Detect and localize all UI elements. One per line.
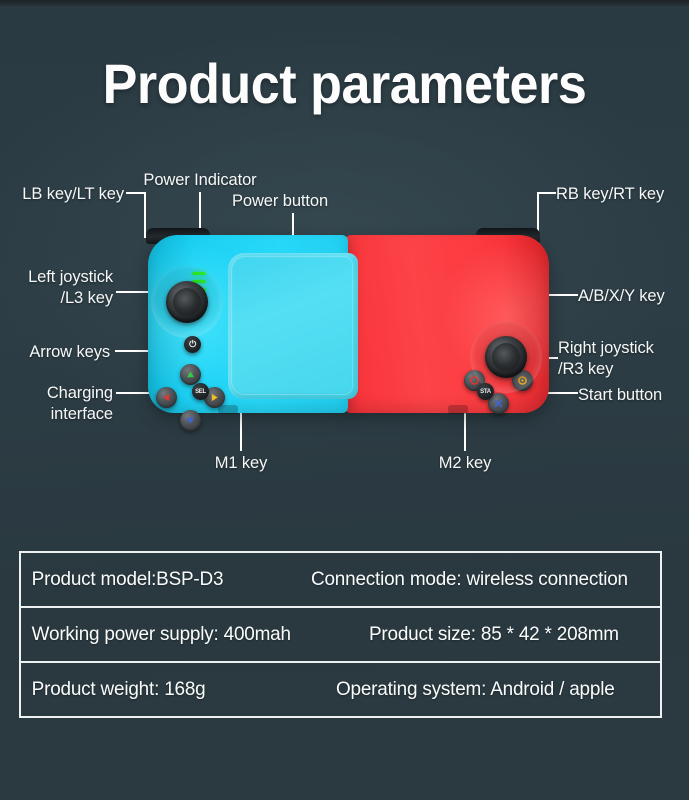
- dpad-down-button[interactable]: [180, 410, 201, 431]
- power-button[interactable]: ⏻: [184, 336, 201, 353]
- callout-label-power-button: Power button: [232, 191, 392, 212]
- select-button[interactable]: SEL: [192, 383, 209, 400]
- start-button-label: STA: [480, 389, 491, 395]
- leader-line-rb-rt-h: [538, 192, 556, 194]
- start-button[interactable]: STA: [477, 383, 494, 400]
- spec-cell-operating-system: Operating system: Android / apple: [336, 678, 615, 701]
- gamepad-illustration: ⏻ SEL: [0, 228, 689, 413]
- m1-key[interactable]: [218, 405, 238, 414]
- right-joystick[interactable]: [485, 336, 527, 378]
- spec-cell-product-size: Product size: 85 * 42 * 208mm: [369, 623, 619, 646]
- leader-line-m1-key: [240, 412, 242, 451]
- leader-line-m2-key: [464, 412, 466, 451]
- phone-cradle-lip: [231, 256, 353, 395]
- product-parameters-infographic: Product parameters LB key/LT key Power I…: [0, 0, 689, 800]
- spec-cell-product-model: Product model:BSP-D3: [21, 568, 302, 591]
- callout-label-lb-lt: LB key/LT key: [0, 184, 124, 205]
- right-joystick-cap: [492, 343, 520, 371]
- select-button-label: SEL: [195, 389, 206, 395]
- top-edge-band: [0, 0, 689, 6]
- callout-label-m2-key: M2 key: [410, 453, 520, 474]
- spec-table-row: Working power supply: 400mah Product siz…: [21, 608, 660, 663]
- left-joystick[interactable]: [166, 281, 208, 323]
- callout-label-m1-key: M1 key: [186, 453, 296, 474]
- spec-cell-product-weight: Product weight: 168g: [21, 678, 327, 701]
- left-joystick-cap: [173, 288, 201, 316]
- callout-label-power-indicator: Power Indicator: [126, 170, 274, 191]
- callout-label-rb-rt: RB key/RT key: [556, 184, 689, 205]
- page-title: Product parameters: [24, 49, 665, 119]
- power-icon: ⏻: [189, 339, 196, 350]
- spec-table: Product model:BSP-D3 Connection mode: wi…: [19, 551, 662, 718]
- dpad-up-button[interactable]: [180, 364, 201, 385]
- spec-cell-working-power-supply: Working power supply: 400mah: [21, 623, 359, 646]
- leader-line-lb-lt-h: [126, 192, 146, 194]
- spec-table-row: Product weight: 168g Operating system: A…: [21, 663, 660, 716]
- spec-cell-connection-mode: Connection mode: wireless connection: [311, 568, 628, 591]
- dpad-left-button[interactable]: [156, 387, 177, 408]
- m2-key[interactable]: [448, 405, 468, 414]
- spec-table-row: Product model:BSP-D3 Connection mode: wi…: [21, 553, 660, 608]
